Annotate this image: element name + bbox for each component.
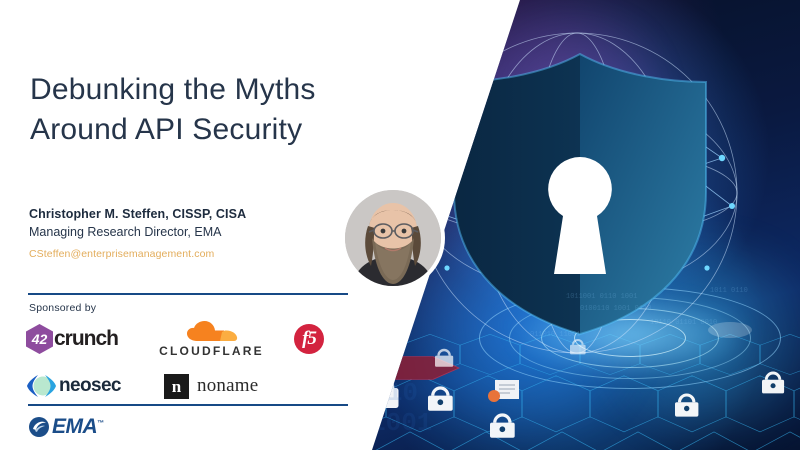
sponsored-by-label: Sponsored by bbox=[29, 302, 96, 314]
svg-text:1001: 1001 bbox=[370, 408, 432, 438]
f5-wordmark: f5 bbox=[294, 324, 324, 354]
presentation-slide: 1011001 0110 1001 0100110 1001 0110 1011… bbox=[0, 0, 800, 450]
svg-text:0100110 1001 0110: 0100110 1001 0110 bbox=[580, 305, 651, 313]
sponsor-logos: 42 crunch CLOUDFLARE f5 bbox=[26, 318, 356, 406]
ema-trademark: ™ bbox=[97, 420, 104, 427]
cloudflare-cloud-icon bbox=[184, 321, 240, 343]
presenter-role: Managing Research Director, EMA bbox=[29, 223, 329, 241]
ema-wordmark: EMA™ bbox=[52, 415, 104, 439]
ema-swoosh-icon bbox=[28, 416, 50, 438]
divider-top bbox=[28, 293, 348, 295]
page-title: Debunking the Myths Around API Security bbox=[30, 70, 360, 150]
sponsor-logo-neosec[interactable]: neosec bbox=[26, 373, 138, 399]
noname-mark-text: n bbox=[172, 378, 181, 395]
42crunch-wordmark: crunch bbox=[54, 327, 118, 351]
42crunch-hex-icon: 42 bbox=[26, 324, 53, 354]
sponsor-logo-noname[interactable]: n noname bbox=[164, 374, 258, 399]
sponsor-logo-f5[interactable]: f5 bbox=[287, 324, 331, 354]
sponsor-logo-cloudflare[interactable]: CLOUDFLARE bbox=[154, 321, 269, 358]
neosec-wordmark: neosec bbox=[59, 375, 121, 397]
presenter-name: Christopher M. Steffen, CISSP, CISA bbox=[29, 205, 329, 223]
noname-wordmark: noname bbox=[197, 375, 258, 397]
title-line-1: Debunking the Myths bbox=[30, 70, 360, 110]
title-line-2: Around API Security bbox=[30, 110, 360, 150]
sponsor-logo-42crunch[interactable]: 42 crunch bbox=[26, 324, 132, 354]
presenter-block: Christopher M. Steffen, CISSP, CISA Mana… bbox=[29, 205, 329, 260]
ema-brand-name: EMA bbox=[52, 415, 97, 438]
cloudflare-wordmark: CLOUDFLARE bbox=[154, 344, 269, 358]
binary-code-texture: 1011001 0110 1001 0100110 1001 0110 1011… bbox=[330, 280, 800, 450]
42crunch-mark-text: 42 bbox=[32, 332, 48, 346]
ema-logo[interactable]: EMA™ bbox=[28, 415, 104, 439]
presenter-email[interactable]: CSteffen@enterprisemanagement.com bbox=[29, 248, 329, 260]
neosec-brackets-icon bbox=[26, 373, 56, 399]
presenter-avatar bbox=[345, 190, 441, 286]
noname-mark-icon: n bbox=[164, 374, 189, 399]
svg-text:1011 0110: 1011 0110 bbox=[710, 287, 748, 295]
svg-text:1011001 0110 1001: 1011001 0110 1001 bbox=[566, 293, 637, 301]
svg-text:011010 11001: 011010 11001 bbox=[530, 331, 580, 339]
svg-text:10110 01101 0010: 10110 01101 0010 bbox=[650, 319, 717, 327]
